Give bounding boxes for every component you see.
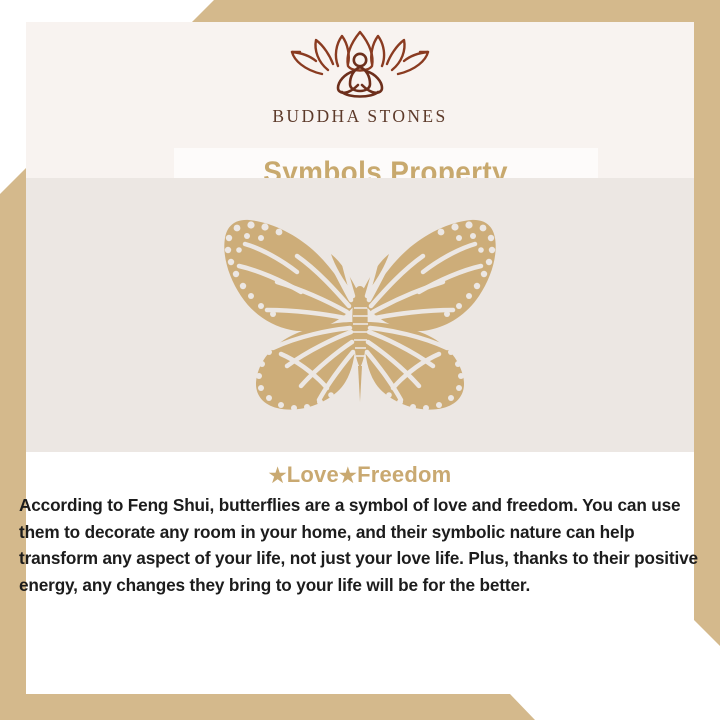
butterfly-icon <box>195 210 525 420</box>
butterfly-illustration <box>26 178 694 452</box>
header-panel: BUDDHA STONES Symbols Property <box>26 22 694 178</box>
lotus-meditation-icon <box>280 30 440 102</box>
illustration-panel: Feng Shui Butterfly <box>26 178 694 452</box>
frame-left-band <box>0 168 26 720</box>
heading-freedom-label: Freedom <box>357 462 451 487</box>
star-middle-icon: ★ <box>339 465 357 487</box>
infographic-page: BUDDHA STONES Symbols Property <box>0 0 720 720</box>
brand-logo: BUDDHA STONES <box>26 30 694 127</box>
frame-bottom-band <box>0 694 720 720</box>
heading-love-label: Love <box>287 462 339 487</box>
frame-top-band <box>0 0 720 24</box>
star-left-icon: ★ <box>269 465 287 487</box>
brand-wordmark: BUDDHA STONES <box>272 106 447 127</box>
description-paragraph: According to Feng Shui, butterflies are … <box>19 492 705 598</box>
love-freedom-heading: ★Love★Freedom <box>26 462 694 488</box>
